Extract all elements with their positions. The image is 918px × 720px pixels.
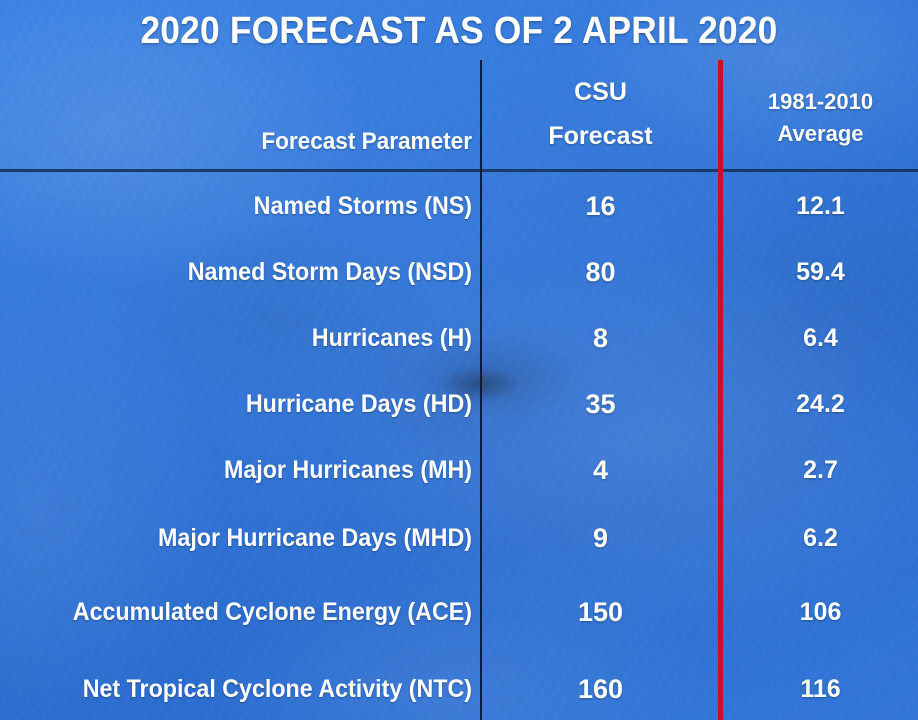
row-parameter-label: Major Hurricane Days (MHD) <box>33 521 472 555</box>
column-header-csu-line2: Forecast <box>483 114 718 158</box>
table-row: Named Storm Days (NSD) 80 59.4 <box>0 255 918 289</box>
row-parameter-label: Named Storm Days (NSD) <box>33 255 472 289</box>
row-parameter-label: Major Hurricanes (MH) <box>33 453 472 487</box>
column-header-csu-line1: CSU <box>483 70 718 114</box>
row-csu-value: 150 <box>483 595 718 629</box>
row-parameter-label: Net Tropical Cyclone Activity (NTC) <box>33 672 472 706</box>
row-csu-value: 8 <box>483 321 718 355</box>
row-csu-value: 4 <box>483 453 718 487</box>
row-average-value: 106 <box>723 595 918 629</box>
row-average-value: 24.2 <box>723 387 918 421</box>
row-average-value: 2.7 <box>723 453 918 487</box>
row-csu-value: 35 <box>483 387 718 421</box>
column-header-average-line2: Average <box>723 118 918 150</box>
slide-title: 2020 FORECAST AS OF 2 APRIL 2020 <box>32 8 886 54</box>
row-average-value: 12.1 <box>723 189 918 223</box>
table-row: Hurricane Days (HD) 35 24.2 <box>0 387 918 421</box>
row-csu-value: 80 <box>483 255 718 289</box>
table-row: Net Tropical Cyclone Activity (NTC) 160 … <box>0 672 918 706</box>
row-average-value: 6.2 <box>723 521 918 555</box>
header-separator-line <box>0 169 918 172</box>
row-csu-value: 16 <box>483 189 718 223</box>
column-header-parameter: Forecast Parameter <box>28 126 472 158</box>
row-parameter-label: Named Storms (NS) <box>33 189 472 223</box>
table-row: Major Hurricanes (MH) 4 2.7 <box>0 453 918 487</box>
forecast-slide: 2020 FORECAST AS OF 2 APRIL 2020 Forecas… <box>0 0 918 720</box>
row-average-value: 59.4 <box>723 255 918 289</box>
table-row: Major Hurricane Days (MHD) 9 6.2 <box>0 521 918 555</box>
table-row: Accumulated Cyclone Energy (ACE) 150 106 <box>0 595 918 629</box>
column-header-csu-forecast: CSU Forecast <box>483 70 718 158</box>
row-csu-value: 160 <box>483 672 718 706</box>
column-header-average: 1981-2010 Average <box>723 86 918 150</box>
row-csu-value: 9 <box>483 521 718 555</box>
row-parameter-label: Hurricane Days (HD) <box>33 387 472 421</box>
table-row: Hurricanes (H) 8 6.4 <box>0 321 918 355</box>
column-header-average-line1: 1981-2010 <box>723 86 918 118</box>
table-row: Named Storms (NS) 16 12.1 <box>0 189 918 223</box>
row-parameter-label: Hurricanes (H) <box>33 321 472 355</box>
row-average-value: 116 <box>723 672 918 706</box>
row-parameter-label: Accumulated Cyclone Energy (ACE) <box>33 595 472 629</box>
row-average-value: 6.4 <box>723 321 918 355</box>
